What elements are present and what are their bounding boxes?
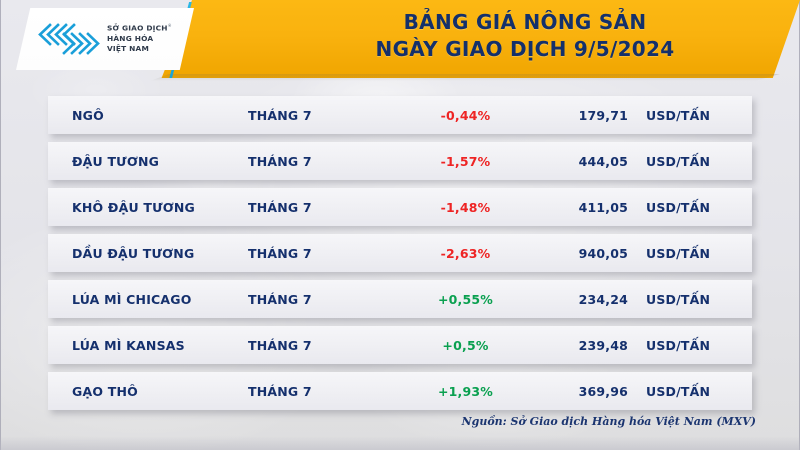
- table-row[interactable]: LÚA MÌ CHICAGOTHÁNG 7+0,55%234,24USD/TẤN: [48, 280, 752, 318]
- table-row[interactable]: DẦU ĐẬU TƯƠNGTHÁNG 7-2,63%940,05USD/TẤN: [48, 234, 752, 272]
- commodity-name: LÚA MÌ CHICAGO: [48, 292, 248, 307]
- commodity-name: DẦU ĐẬU TƯƠNG: [48, 246, 248, 261]
- price-value: 369,96: [533, 384, 628, 399]
- header: SỞ GIAO DỊCH® HÀNG HÓA VIỆT NAM BẢNG GIÁ…: [0, 0, 800, 84]
- commodity-name: NGÔ: [48, 108, 248, 123]
- price-board-page: SỞ GIAO DỊCH® HÀNG HÓA VIỆT NAM BẢNG GIÁ…: [0, 0, 800, 450]
- footer: Nguồn: Sở Giao dịch Hàng hóa Việt Nam (M…: [462, 415, 756, 428]
- logo-card: SỞ GIAO DỊCH® HÀNG HÓA VIỆT NAM: [16, 8, 194, 70]
- commodity-name: GẠO THÔ: [48, 384, 248, 399]
- commodity-name: KHÔ ĐẬU TƯƠNG: [48, 200, 248, 215]
- table-row[interactable]: GẠO THÔTHÁNG 7+1,93%369,96USD/TẤN: [48, 372, 752, 410]
- logo-wordmark: SỞ GIAO DỊCH® HÀNG HÓA VIỆT NAM: [107, 23, 172, 55]
- price-table: NGÔTHÁNG 7-0,44%179,71USD/TẤNĐẬU TƯƠNGTH…: [0, 96, 800, 418]
- price-unit: USD/TẤN: [628, 338, 718, 353]
- contract-month: THÁNG 7: [248, 154, 398, 169]
- logo-line-3: VIỆT NAM: [107, 44, 149, 53]
- price-value: 179,71: [533, 108, 628, 123]
- header-banner-shadow: [150, 74, 780, 81]
- commodity-name: ĐẬU TƯƠNG: [48, 154, 248, 169]
- table-row[interactable]: KHÔ ĐẬU TƯƠNGTHÁNG 7-1,48%411,05USD/TẤN: [48, 188, 752, 226]
- table-row[interactable]: NGÔTHÁNG 7-0,44%179,71USD/TẤN: [48, 96, 752, 134]
- commodity-name: LÚA MÌ KANSAS: [48, 338, 248, 353]
- mxv-chevron-wave-logo-icon: [38, 22, 100, 56]
- title-line-2: NGÀY GIAO DỊCH 9/5/2024: [270, 36, 780, 63]
- price-unit: USD/TẤN: [628, 384, 718, 399]
- price-change: -2,63%: [398, 246, 533, 261]
- price-change: +0,55%: [398, 292, 533, 307]
- price-unit: USD/TẤN: [628, 108, 718, 123]
- contract-month: THÁNG 7: [248, 384, 398, 399]
- logo-line-2: HÀNG HÓA: [107, 34, 153, 43]
- logo-trademark: ®: [168, 23, 172, 28]
- price-change: -1,48%: [398, 200, 533, 215]
- table-row[interactable]: ĐẬU TƯƠNGTHÁNG 7-1,57%444,05USD/TẤN: [48, 142, 752, 180]
- source-note: Nguồn: Sở Giao dịch Hàng hóa Việt Nam (M…: [462, 415, 756, 428]
- price-change: +0,5%: [398, 338, 533, 353]
- price-value: 940,05: [533, 246, 628, 261]
- price-change: -0,44%: [398, 108, 533, 123]
- page-title: BẢNG GIÁ NÔNG SẢN NGÀY GIAO DỊCH 9/5/202…: [270, 9, 780, 63]
- contract-month: THÁNG 7: [248, 338, 398, 353]
- contract-month: THÁNG 7: [248, 108, 398, 123]
- price-change: +1,93%: [398, 384, 533, 399]
- price-value: 444,05: [533, 154, 628, 169]
- title-line-1: BẢNG GIÁ NÔNG SẢN: [270, 9, 780, 36]
- price-unit: USD/TẤN: [628, 154, 718, 169]
- price-unit: USD/TẤN: [628, 246, 718, 261]
- price-value: 239,48: [533, 338, 628, 353]
- price-unit: USD/TẤN: [628, 292, 718, 307]
- price-change: -1,57%: [398, 154, 533, 169]
- contract-month: THÁNG 7: [248, 246, 398, 261]
- logo-line-1: SỞ GIAO DỊCH: [107, 23, 168, 32]
- price-value: 411,05: [533, 200, 628, 215]
- price-unit: USD/TẤN: [628, 200, 718, 215]
- table-row[interactable]: LÚA MÌ KANSASTHÁNG 7+0,5%239,48USD/TẤN: [48, 326, 752, 364]
- contract-month: THÁNG 7: [248, 292, 398, 307]
- contract-month: THÁNG 7: [248, 200, 398, 215]
- price-value: 234,24: [533, 292, 628, 307]
